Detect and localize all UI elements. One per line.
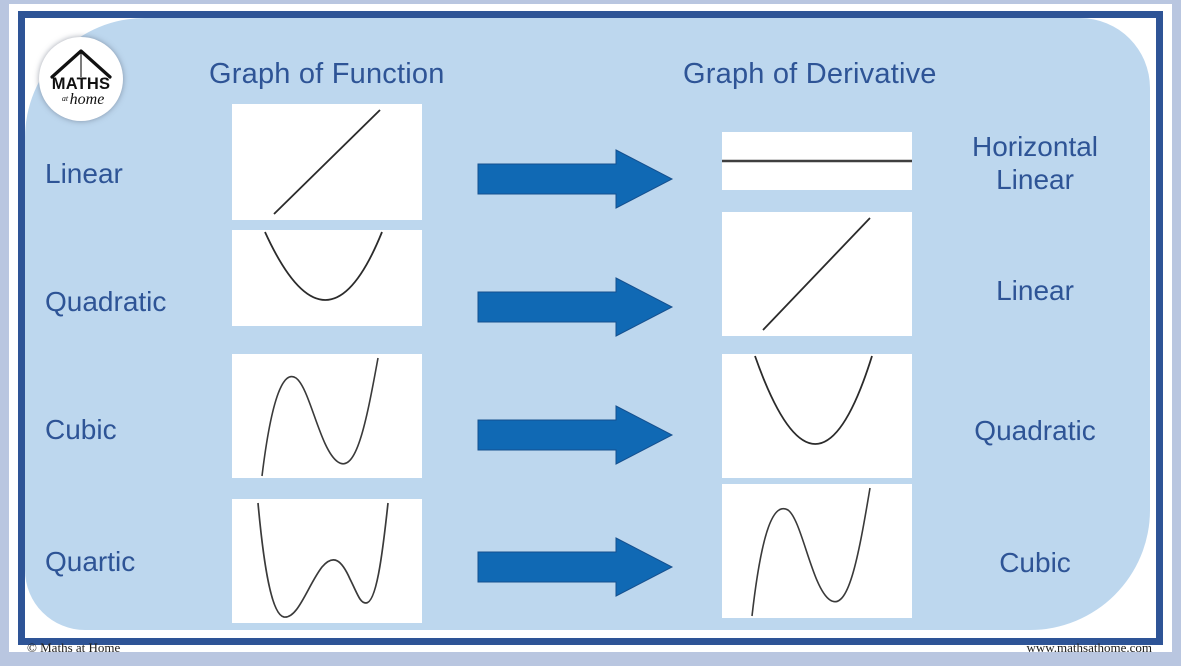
row-label-derivative-quartic: Cubic	[945, 546, 1125, 579]
svg-text:home: home	[70, 91, 105, 108]
diagram-screen: MATHS at home Graph of Function Graph of…	[0, 0, 1181, 666]
row-label-function-cubic: Cubic	[45, 414, 117, 446]
graph-thumb-function-quadratic	[232, 230, 422, 326]
footer-bar: © Maths at Home www.mathsathome.com	[25, 636, 1156, 662]
row-label-derivative-cubic: Quadratic	[945, 414, 1125, 447]
row-label-function-quartic: Quartic	[45, 546, 135, 578]
derivative-arrow-cubic	[476, 404, 674, 466]
footer-website[interactable]: www.mathsathome.com	[1026, 640, 1152, 656]
row-label-derivative-linear: Horizontal Linear	[945, 130, 1125, 196]
content-area: MATHS at home Graph of Function Graph of…	[25, 18, 1156, 638]
footer-copyright: © Maths at Home	[27, 640, 120, 656]
graph-thumb-derivative-cubic	[722, 484, 912, 618]
row-label-derivative-quadratic: Linear	[945, 274, 1125, 307]
maths-at-home-logo: MATHS at home	[39, 37, 123, 121]
graph-thumb-function-cubic	[232, 354, 422, 478]
row-label-function-quadratic: Quadratic	[45, 286, 166, 318]
graph-thumb-derivative-linear	[722, 212, 912, 336]
row-label-function-linear: Linear	[45, 158, 123, 190]
graph-thumb-function-linear	[232, 104, 422, 220]
column-header-derivative: Graph of Derivative	[683, 58, 937, 91]
column-header-function: Graph of Function	[209, 58, 445, 91]
derivative-arrow-linear	[476, 148, 674, 210]
graph-thumb-derivative-quadratic	[722, 354, 912, 478]
derivative-arrow-quartic	[476, 536, 674, 598]
graph-thumb-function-quartic	[232, 499, 422, 623]
graph-thumb-derivative-horizontal-linear	[722, 132, 912, 190]
derivative-arrow-quadratic	[476, 276, 674, 338]
svg-text:at: at	[62, 94, 69, 103]
